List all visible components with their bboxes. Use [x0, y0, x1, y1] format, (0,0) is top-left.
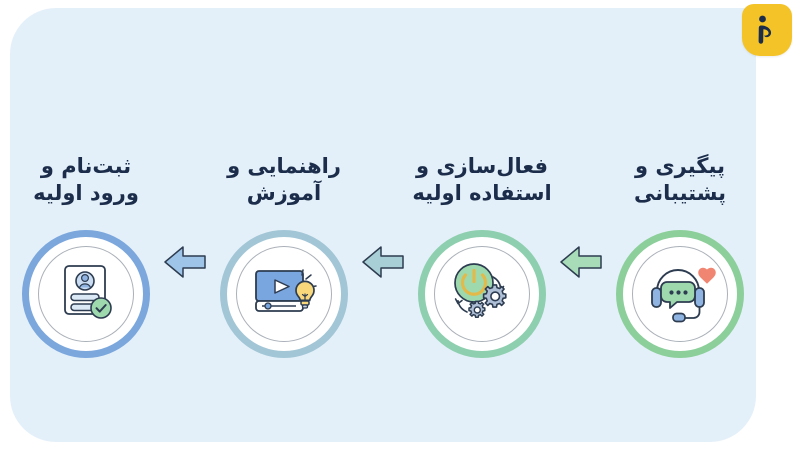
video-tutorial-icon: [246, 255, 322, 333]
step-1-circle: [22, 230, 150, 358]
support-headset-icon: [641, 255, 719, 333]
arrow-step1-to-step2: [162, 239, 208, 285]
step-1-registration: ثبت‌نام و ورود اولیه: [10, 92, 162, 358]
infographic-canvas: ثبت‌نام و ورود اولیه: [0, 0, 800, 450]
step-4-label: پیگیری و پشتیبانی: [634, 150, 726, 208]
power-gears-icon: [443, 255, 521, 333]
step-3-activation: فعال‌سازی و استفاده اولیه: [406, 92, 558, 358]
step-4-support: پیگیری و پشتیبانی: [604, 92, 756, 358]
arrow-step3-to-step4: [558, 239, 604, 285]
step-2-tutorial: راهنمایی و آموزش: [208, 92, 360, 358]
step-4-circle: [616, 230, 744, 358]
process-steps: ثبت‌نام و ورود اولیه: [10, 8, 756, 442]
arrow-step2-to-step3: [360, 239, 406, 285]
step-3-label: فعال‌سازی و استفاده اولیه: [412, 150, 551, 208]
registration-form-icon: [49, 255, 123, 333]
step-1-label: ثبت‌نام و ورود اولیه: [33, 150, 139, 208]
step-2-label: راهنمایی و آموزش: [227, 150, 341, 208]
step-2-circle: [220, 230, 348, 358]
step-3-circle: [418, 230, 546, 358]
brand-logo-glyph: [752, 13, 782, 47]
